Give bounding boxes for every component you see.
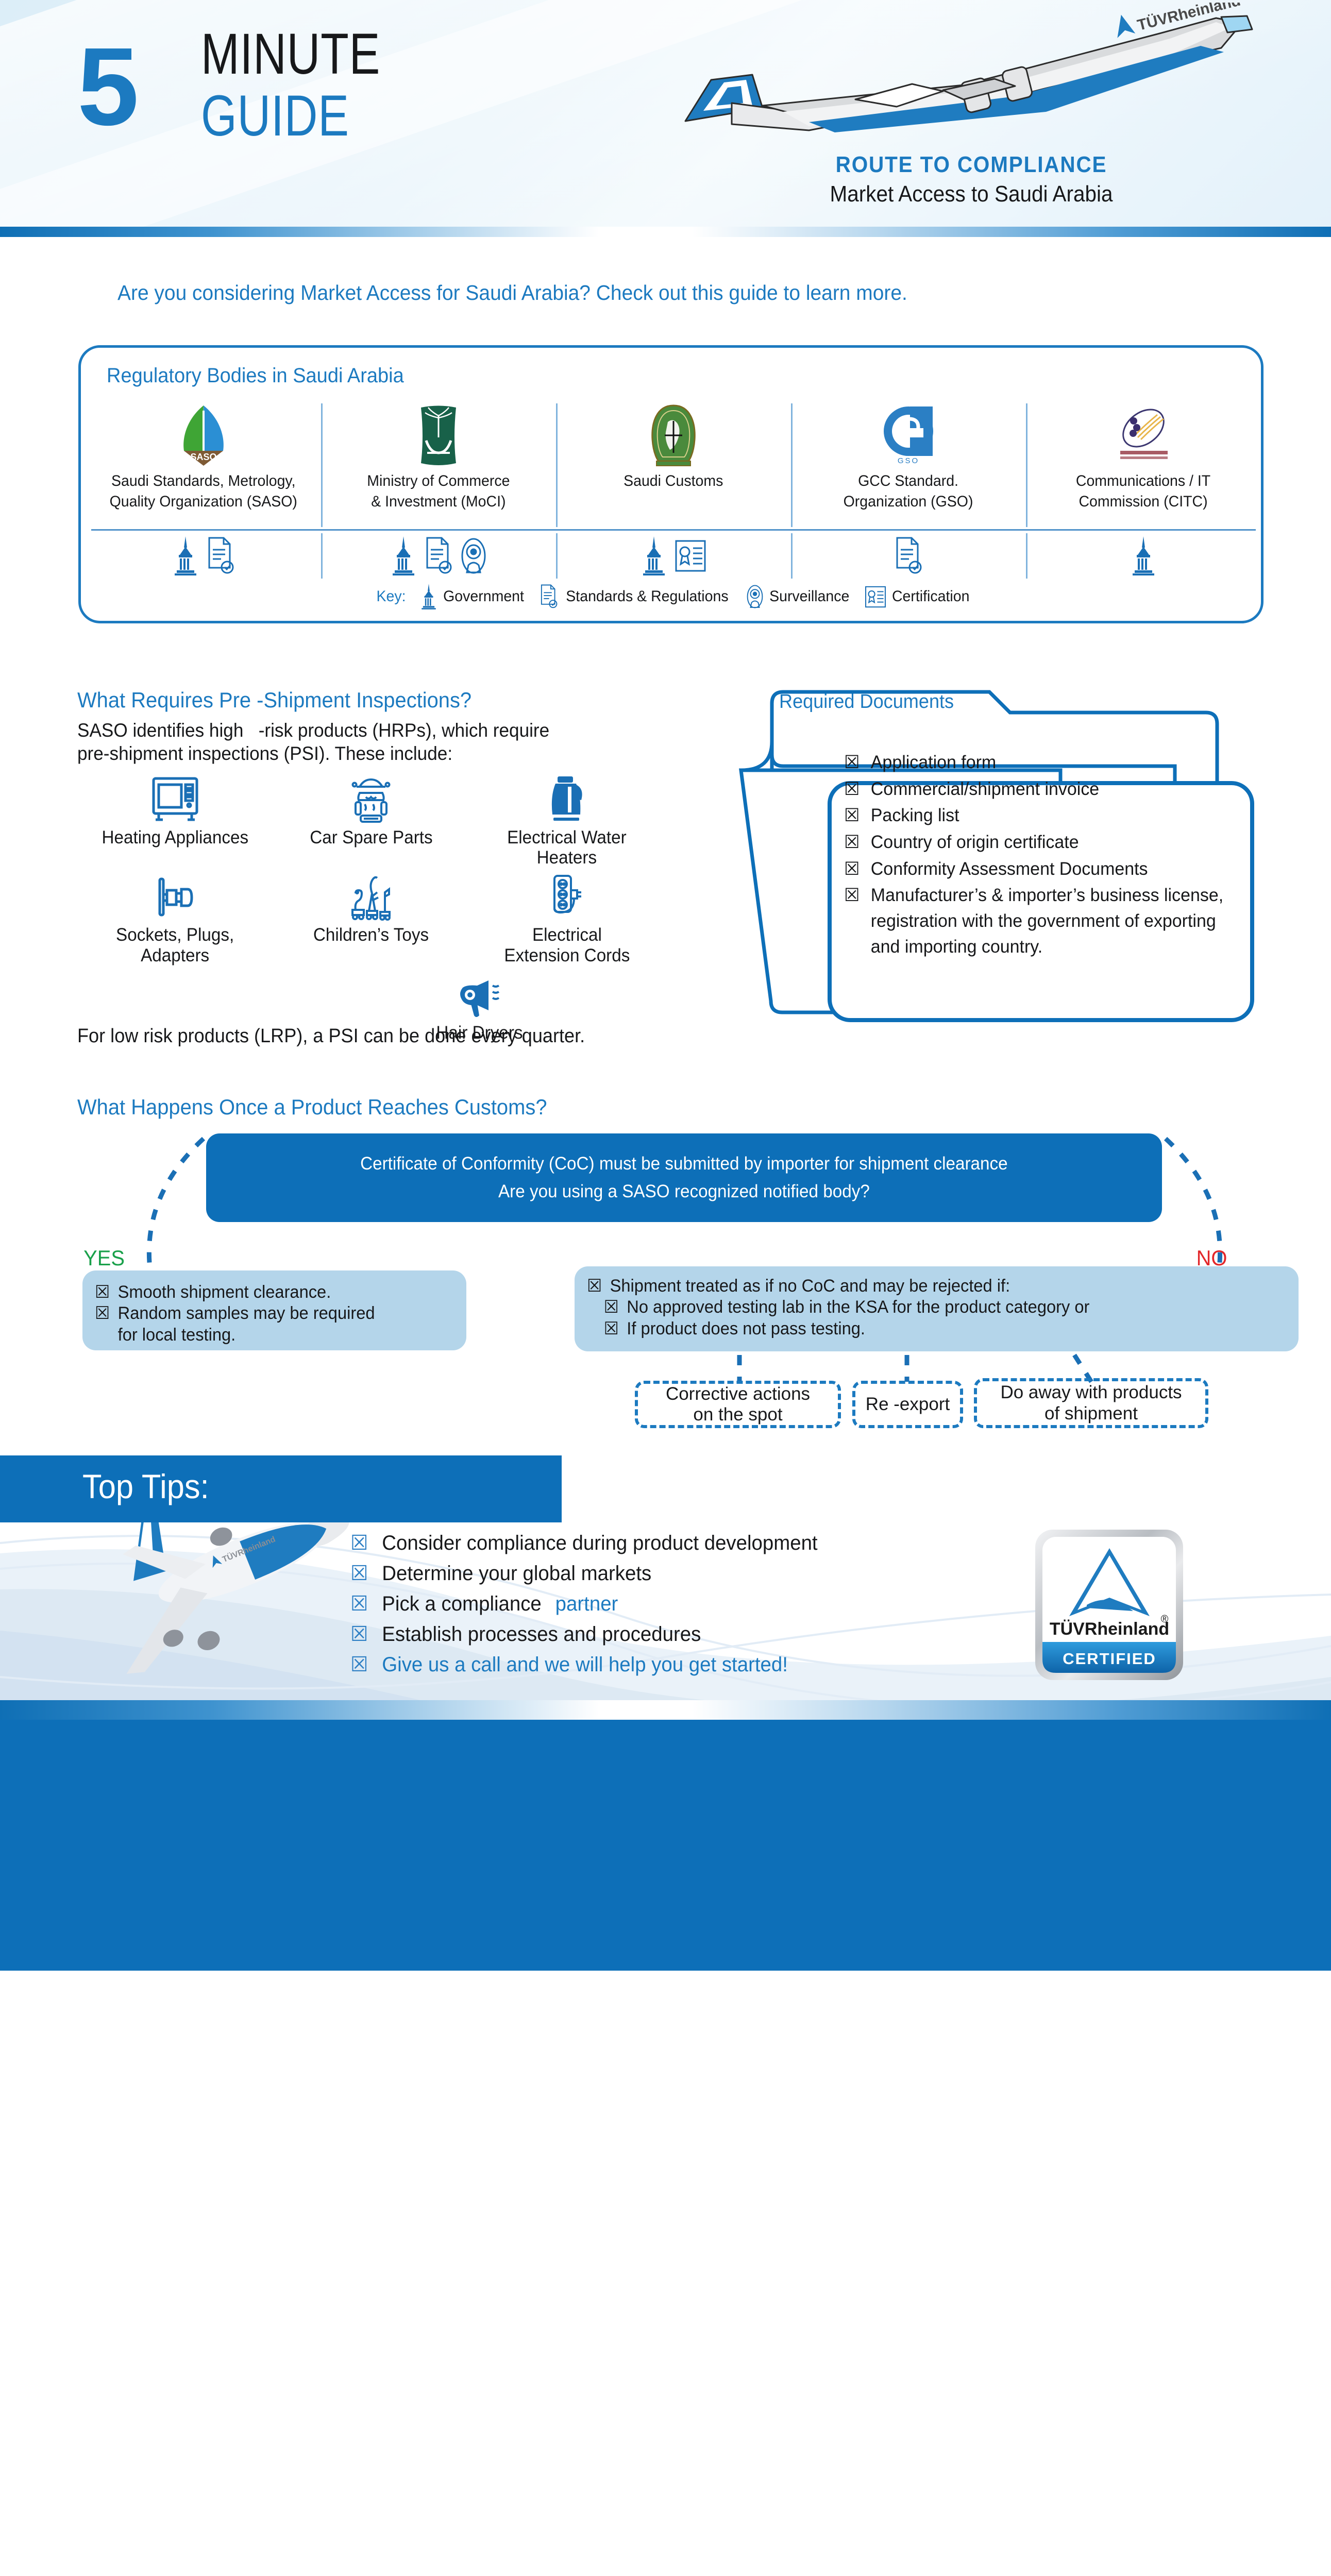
key-item-label: Government (443, 588, 524, 605)
list-item-label: Random samples may be requiredfor local … (118, 1303, 375, 1346)
psi-item-heating-appliances[interactable]: Heating Appliances (77, 770, 273, 868)
car-parts-icon (345, 775, 397, 824)
regulatory-bodies-panel: Regulatory Bodies in Saudi Arabia SASO S… (78, 345, 1263, 623)
route-title: ROUTE TO COMPLIANCE (699, 152, 1244, 178)
badge-brand: TÜVRheinland (1050, 1619, 1169, 1639)
bullet-box-icon: ☒ (844, 883, 860, 959)
government-icon (1130, 536, 1157, 575)
psi-item-water-heaters[interactable]: Electrical WaterHeaters (469, 770, 665, 868)
list-item-label: If product does not pass testing. (627, 1318, 865, 1340)
psi-item-car-spare-parts[interactable]: Car Spare Parts (273, 770, 469, 868)
bullet-box-icon: ☒ (604, 1318, 619, 1340)
saso-logo: SASO (173, 403, 234, 468)
guide-number: 5 (77, 31, 136, 142)
psi-item-sockets-plugs[interactable]: Sockets, Plugs,Adapters (77, 868, 273, 965)
certification-icon (675, 539, 706, 573)
kettle-icon (541, 775, 593, 824)
plug-icon (149, 873, 201, 922)
yes-label: YES (83, 1246, 125, 1270)
key-item-label: Certification (892, 588, 969, 605)
top-tips-header: Top Tips: (0, 1455, 562, 1522)
bullet-box-icon: ☒ (844, 803, 860, 828)
list-item-label: Manufacturer’s & importer’s business lic… (871, 883, 1239, 959)
government-icon (390, 536, 417, 575)
list-item: ☒Give us a call and we will help you get… (350, 1654, 944, 1675)
regulatory-body-customs[interactable]: Saudi Customs (556, 403, 791, 527)
citc-logo (1105, 403, 1182, 468)
microwave-icon (149, 775, 201, 824)
bullet-box-icon: ☒ (95, 1303, 110, 1346)
no-outcome-box: ☒Shipment treated as if no CoC and may b… (575, 1266, 1299, 1351)
intro-text: Are you considering Market Access for Sa… (117, 281, 907, 305)
standards-icon (540, 584, 558, 609)
registered-mark: ® (1161, 1614, 1169, 1625)
surveillance-icon (460, 536, 487, 575)
regulatory-panel-title: Regulatory Bodies in Saudi Arabia (107, 364, 404, 387)
list-item-label: No approved testing lab in the KSA for t… (627, 1297, 1089, 1318)
list-item-label: Establish processes and procedures (382, 1624, 701, 1645)
government-icon (172, 536, 199, 575)
required-documents-list: ☒Application form ☒Commercial/shipment i… (844, 750, 1251, 961)
icons-citc (1026, 531, 1261, 581)
list-item: ☒If product does not pass testing. (587, 1318, 1258, 1340)
regulatory-body-label: Saudi Standards, Metrology,Quality Organ… (110, 471, 297, 512)
list-item: ☒Conformity Assessment Documents (844, 856, 1239, 882)
psi-item-label: ElectricalExtension Cords (504, 925, 630, 965)
list-item-label: Conformity Assessment Documents (871, 856, 1148, 882)
icons-moci (321, 531, 556, 581)
psi-item-label: Heating Appliances (102, 827, 249, 848)
bullet-box-icon: ☒ (844, 750, 860, 775)
psi-item-label: Sockets, Plugs,Adapters (116, 925, 234, 965)
top-tips-title: Top Tips: (82, 1467, 209, 1506)
key-label: Key: (376, 588, 406, 605)
bullet-box-icon: ☒ (604, 1297, 619, 1318)
bullet-box-icon: ☒ (844, 829, 860, 855)
customs-logo (645, 403, 702, 468)
standards-icon (206, 536, 235, 575)
certification-icon (865, 585, 886, 608)
bullet-box-icon: ☒ (844, 856, 860, 882)
required-documents-title: Required Documents (779, 691, 954, 713)
outcome-re-export: Re -export (852, 1381, 963, 1428)
psi-row: Sockets, Plugs,Adapters Children’s Toys … (77, 868, 685, 965)
outcome-label: Do away with productsof shipment (1000, 1382, 1182, 1424)
customs-heading: What Happens Once a Product Reaches Cust… (77, 1095, 547, 1120)
header-accent-band (0, 227, 1331, 237)
list-item: ☒Manufacturer’s & importer’s business li… (844, 883, 1239, 959)
list-item: ☒Shipment treated as if no CoC and may b… (587, 1276, 1258, 1297)
outcome-label: Re -export (866, 1394, 950, 1415)
list-item: ☒Determine your global markets (350, 1563, 944, 1584)
footer-accent-band (0, 1700, 1331, 1720)
regulatory-bodies-columns: SASO Saudi Standards, Metrology,Quality … (86, 403, 1261, 527)
list-item: ☒Country of origin certificate (844, 829, 1239, 855)
tuv-certified-badge: TÜVRheinland ® CERTIFIED (1033, 1528, 1185, 1682)
regulatory-body-label: Ministry of Commerce& Investment (MoCI) (367, 471, 510, 512)
psi-body-text: SASO identifies high -risk products (HRP… (77, 719, 616, 765)
yes-outcome-box: ☒Smooth shipment clearance. ☒Random samp… (82, 1270, 466, 1350)
key-item-label: Surveillance (769, 588, 849, 605)
regulatory-body-label: GCC Standard.Organization (GSO) (844, 471, 973, 512)
bullet-box-icon: ☒ (350, 1563, 368, 1584)
list-item: ☒Random samples may be requiredfor local… (95, 1303, 440, 1346)
bullet-box-icon: ☒ (350, 1594, 368, 1614)
list-item-label[interactable]: Give us a call and we will help you get … (382, 1654, 788, 1675)
bullet-box-icon: ☒ (350, 1533, 368, 1553)
top-tips-list: ☒Consider compliance during product deve… (350, 1533, 969, 1685)
regulatory-body-label: Communications / ITCommission (CITC) (1076, 471, 1210, 512)
standards-icon (894, 536, 923, 575)
regulatory-body-saso[interactable]: SASO Saudi Standards, Metrology,Quality … (86, 403, 321, 527)
coc-decision-box: Certificate of Conformity (CoC) must be … (206, 1133, 1162, 1222)
gso-logo: GSO (880, 403, 937, 468)
psi-row: Heating Appliances Car Spare Parts Elect… (77, 770, 685, 868)
svg-text:GSO: GSO (898, 456, 919, 465)
psi-item-extension-cords[interactable]: ElectricalExtension Cords (469, 868, 665, 965)
title-guide: GUIDE (201, 87, 349, 145)
list-item-label: Smooth shipment clearance. (118, 1282, 331, 1303)
airplane-illustration: TÜVRheinland (654, 3, 1273, 152)
list-item: ☒Pick a compliance partner (350, 1594, 944, 1614)
bullet-box-icon: ☒ (95, 1282, 110, 1303)
bullet-box-icon: ☒ (587, 1276, 602, 1297)
government-icon (420, 584, 437, 609)
list-item: ☒No approved testing lab in the KSA for … (587, 1297, 1258, 1318)
list-item: ☒Consider compliance during product deve… (350, 1533, 944, 1553)
outcome-corrective-actions: Corrective actionson the spot (635, 1381, 841, 1428)
key-item-surveillance: Surveillance (746, 584, 851, 609)
moci-logo (415, 403, 462, 468)
list-item-label: Application form (871, 750, 996, 775)
list-item-label: Packing list (871, 803, 959, 828)
psi-item-label: Car Spare Parts (310, 827, 432, 848)
regulatory-body-gso[interactable]: GSO GCC Standard.Organization (GSO) (791, 403, 1026, 527)
regulatory-body-label: Saudi Customs (624, 471, 723, 492)
key-item-certification: Certification (865, 585, 971, 608)
list-item-label: Determine your global markets (382, 1563, 651, 1584)
svg-text:SASO: SASO (190, 452, 216, 462)
psi-item-childrens-toys[interactable]: Children’s Toys (273, 868, 469, 965)
extension-cord-icon (541, 873, 593, 922)
standards-icon (424, 536, 453, 575)
outcome-do-away: Do away with productsof shipment (974, 1378, 1208, 1428)
list-item-label: Pick a compliance (382, 1594, 541, 1614)
key-item-label: Standards & Regulations (566, 588, 728, 605)
list-item-label: Country of origin certificate (871, 829, 1079, 855)
regulatory-icon-row (86, 531, 1261, 581)
surveillance-icon (746, 584, 764, 609)
route-subtitle: Market Access to Saudi Arabia (699, 181, 1244, 207)
list-item: ☒Smooth shipment clearance. (95, 1282, 440, 1303)
toys-icon (345, 873, 397, 922)
bullet-box-icon: ☒ (844, 776, 860, 802)
icons-gso (791, 531, 1026, 581)
bullet-box-icon: ☒ (350, 1654, 368, 1675)
key-legend: Key: Government Standards & Regulations … (81, 584, 1266, 609)
list-item: ☒Packing list (844, 803, 1239, 828)
psi-product-grid: Heating Appliances Car Spare Parts Elect… (77, 770, 685, 1043)
list-item-label: Shipment treated as if no CoC and may be… (610, 1276, 1010, 1297)
regulatory-divider (91, 529, 1256, 531)
outcome-label: Corrective actionson the spot (666, 1384, 810, 1426)
coc-line-2: Are you using a SASO recognized notified… (498, 1181, 870, 1202)
coc-line-1: Certificate of Conformity (CoC) must be … (360, 1154, 1008, 1174)
bullet-box-icon: ☒ (350, 1624, 368, 1645)
page-footer: TÜVRheinland ® Precisely Right. (0, 1720, 1331, 1971)
hairdryer-icon (453, 978, 505, 1020)
icons-customs (556, 531, 791, 581)
list-item-highlight[interactable]: partner (555, 1594, 618, 1614)
page-header: 5 MINUTE GUIDE TÜVRheinland (0, 0, 1331, 237)
list-item: ☒Commercial/shipment invoice (844, 776, 1239, 802)
government-icon (641, 536, 667, 575)
list-item-label: Commercial/shipment invoice (871, 776, 1099, 802)
regulatory-body-citc[interactable]: Communications / ITCommission (CITC) (1026, 403, 1261, 527)
badge-status: CERTIFIED (1063, 1650, 1156, 1668)
required-documents-folder: Required Documents ☒Application form ☒Co… (732, 677, 1265, 1033)
key-item-standards: Standards & Regulations (540, 584, 733, 609)
psi-heading: What Requires Pre -Shipment Inspections? (77, 688, 471, 713)
psi-item-label: Electrical WaterHeaters (507, 827, 627, 868)
list-item: ☒Application form (844, 750, 1239, 775)
list-item: ☒Establish processes and procedures (350, 1624, 944, 1645)
psi-note: For low risk products (LRP), a PSI can b… (77, 1025, 585, 1047)
regulatory-body-moci[interactable]: Ministry of Commerce& Investment (MoCI) (321, 403, 556, 527)
psi-item-label: Children’s Toys (313, 925, 429, 945)
key-item-government: Government (420, 584, 526, 609)
icons-saso (86, 531, 321, 581)
list-item-label: Consider compliance during product devel… (382, 1533, 817, 1553)
title-minute: MINUTE (201, 25, 380, 83)
